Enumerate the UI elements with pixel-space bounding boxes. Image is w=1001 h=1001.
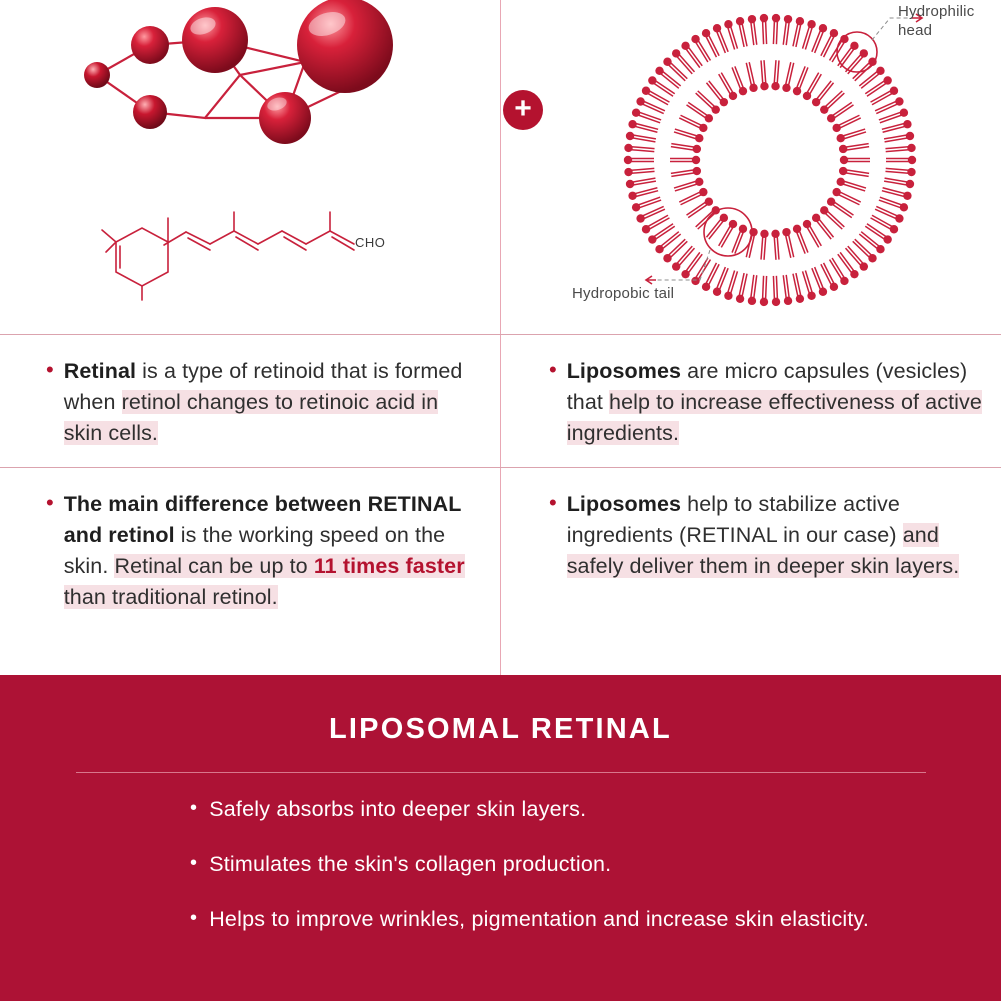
fact-liposomes-bottom-text: Liposomes help to stabilize active ingre… — [567, 489, 983, 582]
fact-difference-highlight-2: than traditional retinol. — [64, 585, 278, 609]
fact-retinal: • Retinal is a type of retinoid that is … — [0, 334, 500, 467]
molecule-3d-icon — [55, 0, 455, 200]
fact-difference-highlight-1: Retinal can be up to — [114, 554, 313, 578]
fact-liposomes-bottom: • Liposomes help to stabilize active ing… — [501, 467, 1001, 675]
list-item: • Stimulates the skin's collagen product… — [0, 850, 1001, 879]
hydrophobic-tail-label: Hydropobic tail — [572, 285, 674, 302]
fact-difference: • The main difference between RETINAL an… — [0, 467, 500, 675]
bullet-dot-icon: • — [190, 795, 197, 822]
liposomal-retinal-banner: LIPOSOMAL RETINAL • Safely absorbs into … — [0, 675, 1001, 1001]
bullet-dot-icon: • — [549, 356, 557, 384]
fact-liposomes-top-lead: Liposomes — [567, 359, 681, 383]
bullet-row: • Liposomes help to stabilize active ing… — [501, 467, 1001, 582]
banner-benefit-text: Helps to improve wrinkles, pigmentation … — [209, 905, 869, 934]
infographic-page: CHO Hydrophilic head Hydropobic tail + • — [0, 0, 1001, 1001]
fact-liposomes-bottom-lead: Liposomes — [567, 492, 681, 516]
banner-divider — [76, 772, 926, 773]
bullet-row: • Liposomes are micro capsules (vesicles… — [501, 334, 1001, 449]
fact-liposomes-top-text: Liposomes are micro capsules (vesicles) … — [567, 356, 983, 449]
hydrophilic-head-label: Hydrophilic head — [898, 2, 998, 40]
fact-difference-text: The main difference between RETINAL and … — [64, 489, 474, 613]
list-item: • Helps to improve wrinkles, pigmentatio… — [0, 905, 1001, 934]
banner-benefit-text: Stimulates the skin's collagen productio… — [209, 850, 611, 879]
liposome-bilayer-icon — [560, 0, 980, 320]
fact-retinal-lead: Retinal — [64, 359, 136, 383]
bullet-dot-icon: • — [549, 489, 557, 517]
retinal-structural-formula-icon — [100, 200, 400, 310]
bullet-dot-icon: • — [190, 850, 197, 877]
plus-icon: + — [503, 90, 543, 130]
bullet-dot-icon: • — [46, 489, 54, 517]
banner-benefit-list: • Safely absorbs into deeper skin layers… — [0, 773, 1001, 934]
fact-difference-highlight-red: 11 times faster — [314, 554, 465, 578]
fact-liposomes-top: • Liposomes are micro capsules (vesicles… — [501, 334, 1001, 467]
banner-title: LIPOSOMAL RETINAL — [0, 675, 1001, 746]
fact-liposomes-top-highlight: help to increase effectiveness of active… — [567, 390, 982, 445]
bullet-dot-icon: • — [46, 356, 54, 384]
bullet-dot-icon: • — [190, 905, 197, 932]
list-item: • Safely absorbs into deeper skin layers… — [0, 795, 1001, 824]
bullet-row: • Retinal is a type of retinoid that is … — [0, 334, 500, 449]
banner-benefit-text: Safely absorbs into deeper skin layers. — [209, 795, 586, 824]
bullet-row: • The main difference between RETINAL an… — [0, 467, 500, 613]
cho-label: CHO — [355, 235, 385, 250]
fact-retinal-text: Retinal is a type of retinoid that is fo… — [64, 356, 474, 449]
